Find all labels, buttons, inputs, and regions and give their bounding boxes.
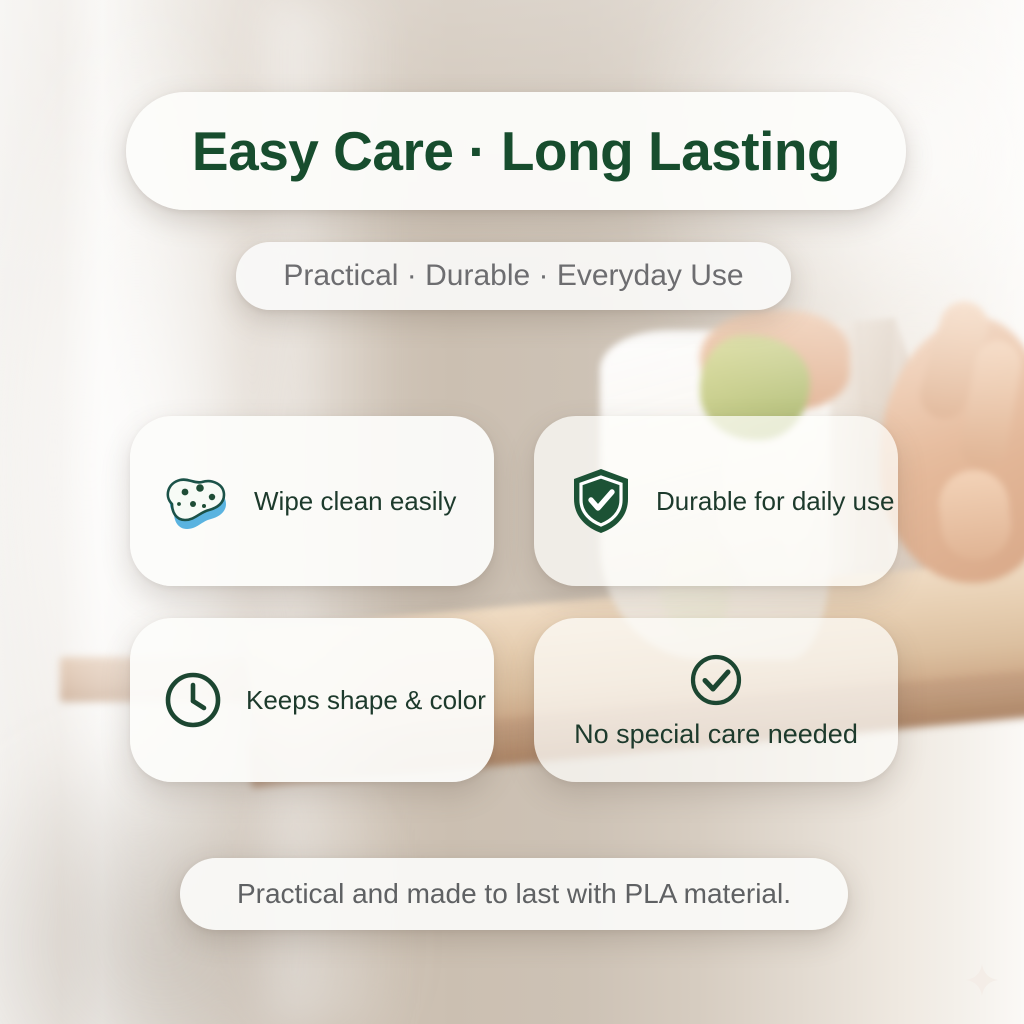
footer-text: Practical and made to last with PLA mate… — [237, 878, 791, 910]
shield-check-icon — [570, 466, 632, 536]
clock-icon — [162, 669, 224, 731]
feature-label-durable: Durable for daily use — [656, 486, 894, 517]
check-circle-icon — [687, 651, 745, 709]
page-title: Easy Care · Long Lasting — [192, 119, 840, 183]
feature-card-durable[interactable]: Durable for daily use — [534, 416, 898, 586]
sponge-icon — [162, 470, 232, 532]
sparkle-icon — [964, 962, 1000, 998]
feature-card-no-special-care[interactable]: No special care needed — [534, 618, 898, 782]
title-pill: Easy Care · Long Lasting — [126, 92, 906, 210]
page-subtitle: Practical · Durable · Everyday Use — [283, 259, 743, 293]
subtitle-pill: Practical · Durable · Everyday Use — [236, 242, 791, 310]
feature-label-wipe-clean: Wipe clean easily — [254, 486, 456, 517]
feature-label-keeps-shape: Keeps shape & color — [246, 685, 486, 716]
overlay-ui: Easy Care · Long Lasting Practical · Dur… — [0, 0, 1024, 1024]
feature-label-no-special-care: No special care needed — [574, 719, 858, 750]
footer-pill: Practical and made to last with PLA mate… — [180, 858, 848, 930]
feature-card-keeps-shape[interactable]: Keeps shape & color — [130, 618, 494, 782]
feature-card-wipe-clean[interactable]: Wipe clean easily — [130, 416, 494, 586]
